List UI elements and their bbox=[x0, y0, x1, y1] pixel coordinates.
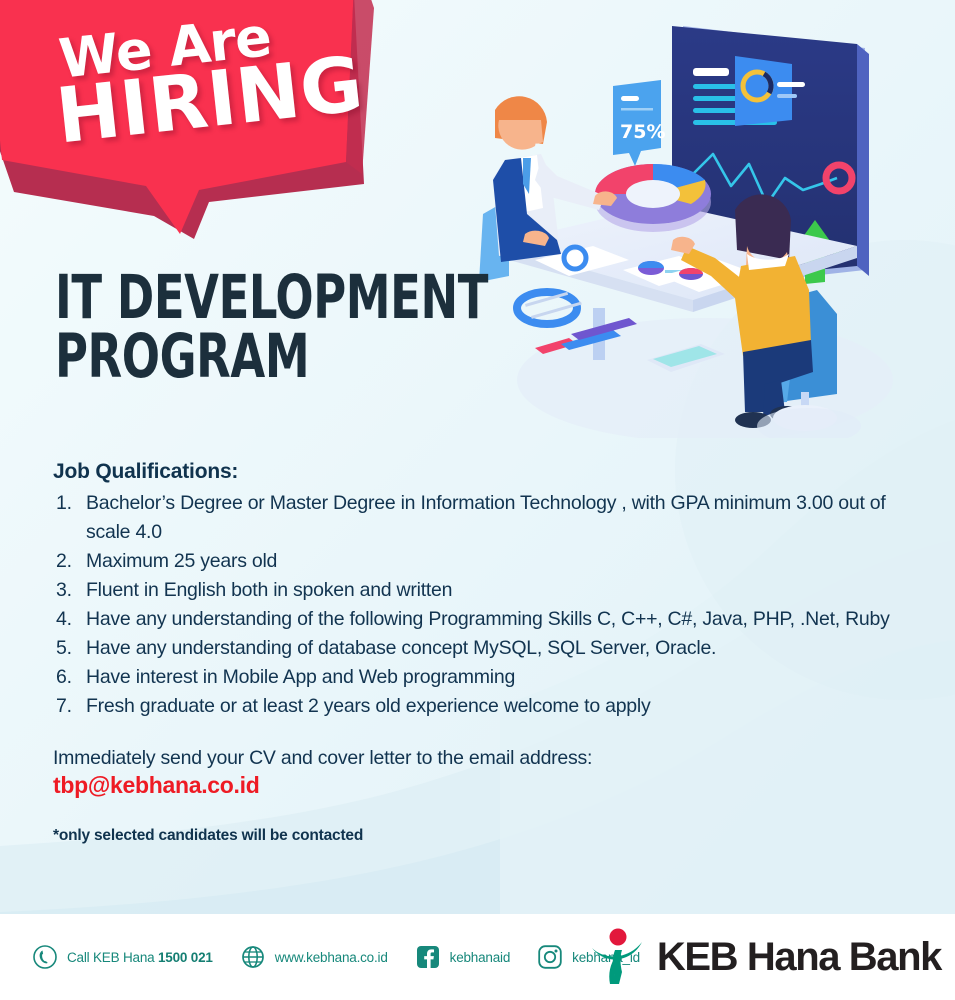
list-item-number: 7. bbox=[53, 692, 86, 721]
logo-text: KEB Hana Bank bbox=[657, 935, 941, 980]
instagram-icon bbox=[537, 944, 563, 970]
list-item-text: Fluent in English both in spoken and wri… bbox=[86, 576, 933, 605]
contact-facebook[interactable]: kebhanaid bbox=[415, 944, 511, 970]
globe-icon bbox=[240, 944, 266, 970]
list-item-text: Have any understanding of the following … bbox=[86, 605, 933, 634]
disclaimer-note: *only selected candidates will be contac… bbox=[53, 827, 933, 845]
tooltip-value: 75% bbox=[620, 121, 665, 143]
list-item: 6. Have interest in Mobile App and Web p… bbox=[53, 663, 933, 692]
contact-website-label: www.kebhana.co.id bbox=[275, 950, 388, 965]
page-title: IT DEVELOPMENT PROGRAM bbox=[55, 268, 488, 386]
list-item-text: Maximum 25 years old bbox=[86, 547, 933, 576]
hiring-banner: We Are HIRING bbox=[0, 0, 464, 239]
contact-phone[interactable]: Call KEB Hana 1500 021 bbox=[32, 944, 213, 970]
hana-figure-icon bbox=[588, 926, 646, 988]
list-item-text: Fresh graduate or at least 2 years old e… bbox=[86, 692, 933, 721]
list-item-number: 6. bbox=[53, 663, 86, 692]
list-item-number: 2. bbox=[53, 547, 86, 576]
banner-shape bbox=[0, 0, 464, 239]
contact-list: Call KEB Hana 1500 021 www.kebhana.co.id bbox=[0, 944, 640, 970]
apply-instruction: Immediately send your CV and cover lette… bbox=[53, 747, 933, 770]
list-item-number: 5. bbox=[53, 634, 86, 663]
list-item: 7. Fresh graduate or at least 2 years ol… bbox=[53, 692, 933, 721]
list-item: 4. Have any understanding of the followi… bbox=[53, 605, 933, 634]
contact-phone-label: Call KEB Hana 1500 021 bbox=[67, 950, 213, 965]
contact-facebook-label: kebhanaid bbox=[450, 950, 511, 965]
footer-bar: Call KEB Hana 1500 021 www.kebhana.co.id bbox=[0, 914, 955, 1000]
list-item-number: 4. bbox=[53, 605, 86, 634]
list-item-text: Bachelor’s Degree or Master Degree in In… bbox=[86, 489, 933, 546]
contact-website[interactable]: www.kebhana.co.id bbox=[240, 944, 388, 970]
banner-fill bbox=[0, 0, 354, 234]
analytics-illustration: 75% bbox=[465, 8, 955, 438]
list-item-text: Have any understanding of database conce… bbox=[86, 634, 933, 663]
list-item: 1. Bachelor’s Degree or Master Degree in… bbox=[53, 489, 933, 546]
phone-icon bbox=[32, 944, 58, 970]
list-item: 3. Fluent in English both in spoken and … bbox=[53, 576, 933, 605]
list-item-text: Have interest in Mobile App and Web prog… bbox=[86, 663, 933, 692]
list-item-number: 1. bbox=[53, 489, 86, 518]
list-item: 5. Have any understanding of database co… bbox=[53, 634, 933, 663]
job-content: Job Qualifications: 1. Bachelor’s Degree… bbox=[53, 460, 933, 845]
qualifications-title: Job Qualifications: bbox=[53, 460, 933, 484]
keb-hana-logo: KEB Hana Bank bbox=[588, 926, 941, 988]
qualifications-list: 1. Bachelor’s Degree or Master Degree in… bbox=[53, 489, 933, 720]
apply-email[interactable]: tbp@kebhana.co.id bbox=[53, 772, 933, 799]
percent-tooltip: 75% bbox=[613, 80, 665, 166]
list-item: 2. Maximum 25 years old bbox=[53, 547, 933, 576]
facebook-icon bbox=[415, 944, 441, 970]
job-poster: We Are HIRING IT DEVELOPMENT PROGRAM bbox=[0, 0, 955, 1000]
list-item-number: 3. bbox=[53, 576, 86, 605]
